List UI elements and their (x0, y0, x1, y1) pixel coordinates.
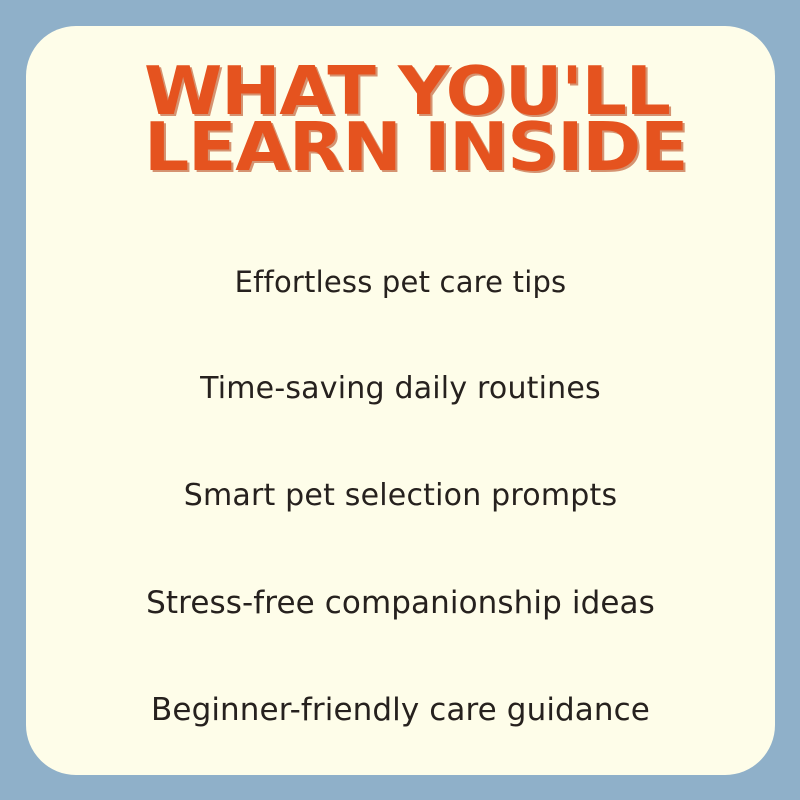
list-item: Beginner-friendly care guidance (26, 672, 775, 775)
slide-canvas: WHAT YOU'LL LEARN INSIDE Effortless pet … (0, 0, 800, 800)
list-item: Time-saving daily routines (26, 351, 775, 458)
list-item: Stress-free companionship ideas (26, 565, 775, 672)
list-item: Effortless pet care tips (26, 244, 775, 351)
content-card: WHAT YOU'LL LEARN INSIDE Effortless pet … (26, 26, 775, 775)
learn-list: Effortless pet care tips Time-saving dai… (26, 244, 775, 775)
page-title-line-2: LEARN INSIDE (144, 120, 706, 174)
page-title: WHAT YOU'LL LEARN INSIDE (144, 64, 674, 174)
list-item: Smart pet selection prompts (26, 458, 775, 565)
